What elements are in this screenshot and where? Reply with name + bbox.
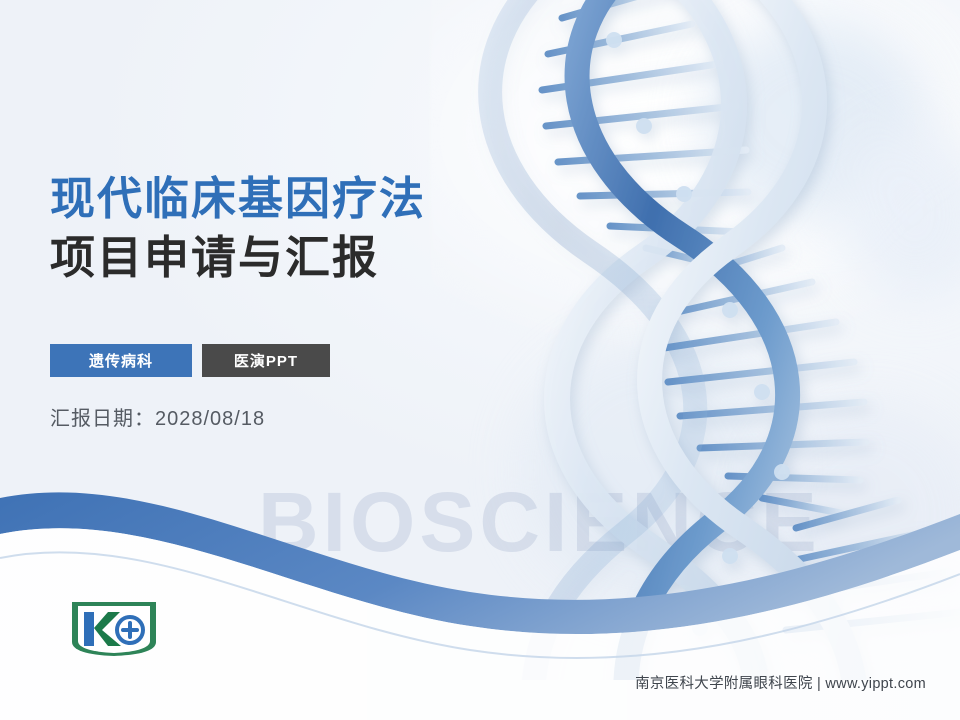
- slide-root: BIOSCIENCE: [0, 0, 960, 720]
- tag-group: 遗传病科 医演PPT: [50, 344, 330, 377]
- tag-brand: 医演PPT: [202, 344, 330, 377]
- footer-attribution: 南京医科大学附属眼科医院 | www.yippt.com: [635, 672, 926, 693]
- report-date: 汇报日期：2028/08/18: [50, 402, 265, 431]
- page-title: 现代临床基因疗法 项目申请与汇报: [50, 172, 570, 286]
- hospital-logo: [62, 600, 166, 658]
- title-line-primary: 现代临床基因疗法: [50, 172, 570, 227]
- tag-department: 遗传病科: [50, 344, 192, 377]
- title-line-secondary: 项目申请与汇报: [50, 231, 570, 286]
